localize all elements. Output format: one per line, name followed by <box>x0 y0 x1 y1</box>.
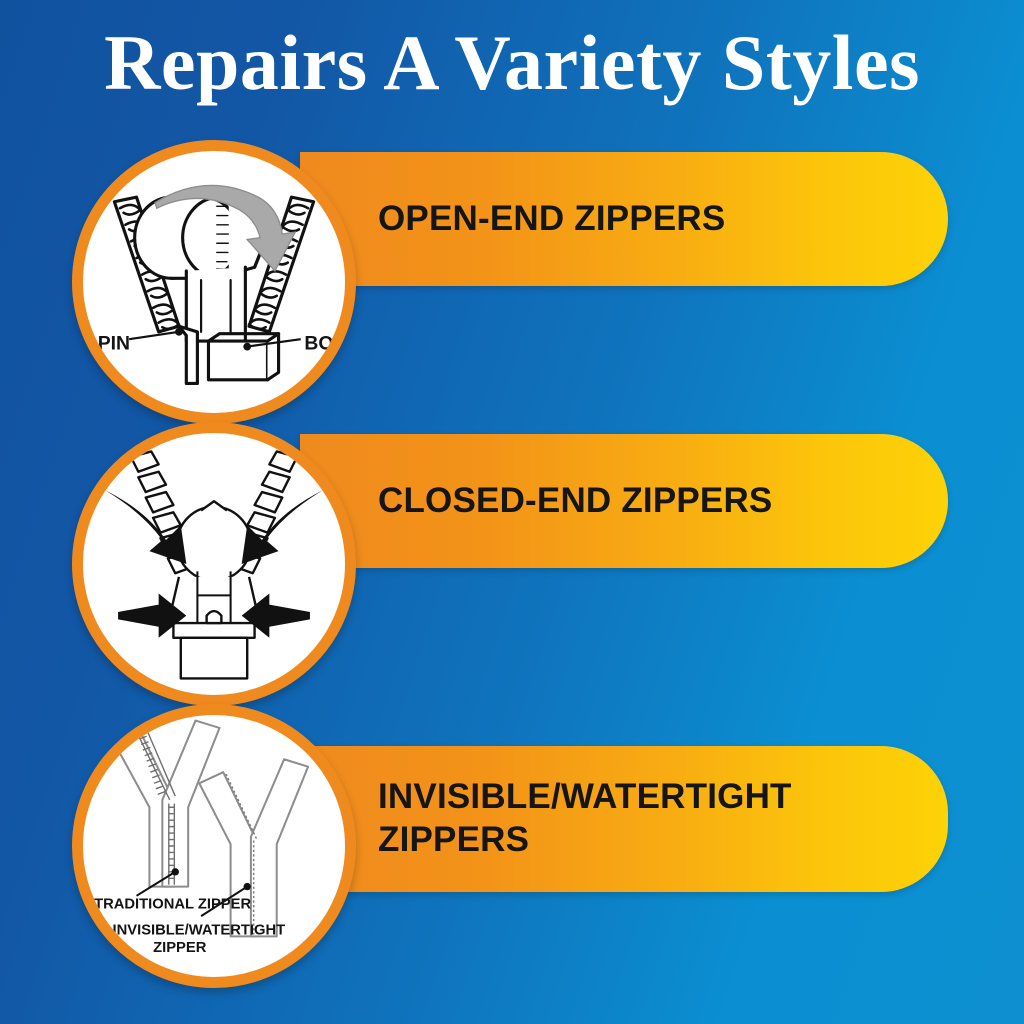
feature-pill-open-end[interactable]: OPEN-END ZIPPERS <box>300 152 948 286</box>
feature-pill-invisible-watertight[interactable]: INVISIBLE/WATERTIGHT ZIPPERS <box>300 746 948 892</box>
callout-pin: PIN <box>98 332 130 354</box>
feature-label-invisible-watertight: INVISIBLE/WATERTIGHT ZIPPERS <box>378 776 838 861</box>
feature-row-open-end: OPEN-END ZIPPERS <box>0 140 1024 425</box>
feature-row-closed-end: CLOSED-END ZIPPERS <box>0 422 1024 707</box>
feature-label-closed-end: CLOSED-END ZIPPERS <box>378 480 772 523</box>
callout-invisible-watertight-line1: INVISIBLE/WATERTIGHT <box>113 923 286 939</box>
callout-invisible-watertight-line2: ZIPPER <box>153 940 207 956</box>
illustration-circle-closed-end <box>72 422 356 706</box>
infographic-poster: Repairs A Variety Styles OPEN-END ZIPPER… <box>0 0 1024 1024</box>
illustration-circle-invisible-watertight: TRADITIONAL ZIPPER INVISIBLE/WATERTIGHT … <box>72 704 356 988</box>
page-title: Repairs A Variety Styles <box>0 22 1024 104</box>
callout-traditional-zipper: TRADITIONAL ZIPPER <box>94 897 251 913</box>
feature-label-open-end: OPEN-END ZIPPERS <box>378 198 725 241</box>
illustration-circle-open-end: PIN BOX <box>72 140 356 424</box>
feature-pill-closed-end[interactable]: CLOSED-END ZIPPERS <box>300 434 948 568</box>
feature-row-invisible-watertight: INVISIBLE/WATERTIGHT ZIPPERS <box>0 704 1024 989</box>
callout-box: BOX <box>304 332 345 354</box>
